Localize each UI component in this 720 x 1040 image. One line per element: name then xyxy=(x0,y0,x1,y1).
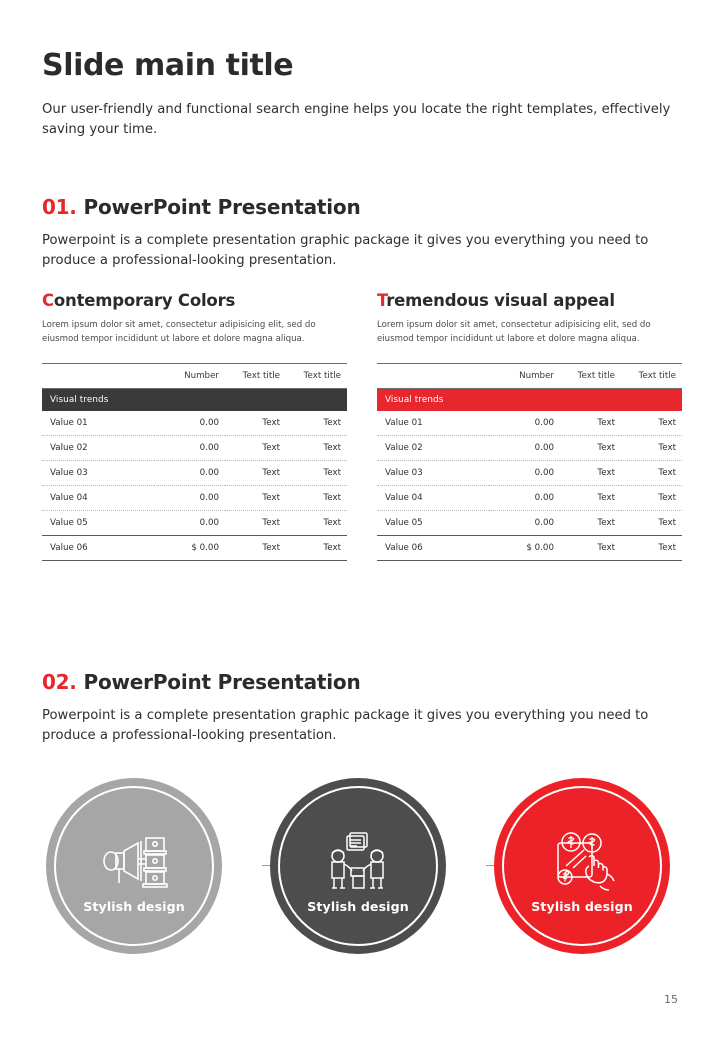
hand-tablet-money-icon xyxy=(544,829,620,893)
table-row: Value 04 0.00 Text Text xyxy=(377,485,682,510)
table-row: Value 01 0.00 Text Text xyxy=(42,411,347,436)
right-r5-c0: Value 06 xyxy=(377,535,489,560)
right-r0-c0: Value 01 xyxy=(377,411,489,436)
left-table-banner-label: Visual trends xyxy=(42,388,347,411)
right-r0-c1: 0.00 xyxy=(489,411,560,436)
right-data-table: Number Text title Text title Visual tren… xyxy=(377,363,682,561)
tables-row: Contemporary Colors Lorem ipsum dolor si… xyxy=(42,292,682,561)
right-r5-c3: Text xyxy=(621,535,682,560)
left-r5-c1: $ 0.00 xyxy=(154,535,225,560)
right-r3-c1: 0.00 xyxy=(489,485,560,510)
section-01-body: Powerpoint is a complete presentation gr… xyxy=(42,231,682,271)
left-r2-c0: Value 03 xyxy=(42,460,154,485)
circle-label-2: Stylish design xyxy=(307,899,409,914)
table-row: Value 02 0.00 Text Text xyxy=(377,435,682,460)
circles-row: Stylish design xyxy=(42,778,682,954)
left-r2-c3: Text xyxy=(286,460,347,485)
left-r3-c2: Text xyxy=(225,485,286,510)
left-table-banner-row: Visual trends xyxy=(42,388,347,411)
circle-item-1[interactable]: Stylish design xyxy=(46,778,222,954)
page-number: 15 xyxy=(664,993,678,1006)
left-r2-c2: Text xyxy=(225,460,286,485)
left-r4-c0: Value 05 xyxy=(42,510,154,535)
left-heading-rest: ontemporary Colors xyxy=(54,291,235,310)
right-r2-c2: Text xyxy=(560,460,621,485)
right-col-head-3: Text title xyxy=(621,364,682,389)
table-row: Value 03 0.00 Text Text xyxy=(377,460,682,485)
left-r1-c3: Text xyxy=(286,435,347,460)
right-table-banner-row: Visual trends xyxy=(377,388,682,411)
left-column-heading: Contemporary Colors xyxy=(42,292,347,310)
right-r1-c1: 0.00 xyxy=(489,435,560,460)
right-col-head-0 xyxy=(377,364,489,389)
right-table-header-row: Number Text title Text title xyxy=(377,364,682,389)
right-r4-c3: Text xyxy=(621,510,682,535)
right-col-head-1: Number xyxy=(489,364,560,389)
right-r4-c1: 0.00 xyxy=(489,510,560,535)
right-r5-c2: Text xyxy=(560,535,621,560)
left-data-table: Number Text title Text title Visual tren… xyxy=(42,363,347,561)
right-r4-c0: Value 05 xyxy=(377,510,489,535)
table-row: Value 01 0.00 Text Text xyxy=(377,411,682,436)
section-01-title: PowerPoint Presentation xyxy=(84,195,361,219)
section-02: 02. PowerPoint Presentation Powerpoint i… xyxy=(42,670,682,746)
table-row: Value 06 $ 0.00 Text Text xyxy=(42,535,347,560)
circle-label-1: Stylish design xyxy=(83,899,185,914)
right-r4-c2: Text xyxy=(560,510,621,535)
section-02-head: 02. PowerPoint Presentation xyxy=(42,670,682,694)
table-block-right: Tremendous visual appeal Lorem ipsum dol… xyxy=(377,292,682,561)
section-02-body: Powerpoint is a complete presentation gr… xyxy=(42,706,682,746)
left-r5-c3: Text xyxy=(286,535,347,560)
circle-label-3: Stylish design xyxy=(531,899,633,914)
right-r1-c2: Text xyxy=(560,435,621,460)
right-r0-c2: Text xyxy=(560,411,621,436)
left-r0-c2: Text xyxy=(225,411,286,436)
left-r3-c3: Text xyxy=(286,485,347,510)
right-heading-rest: remendous visual appeal xyxy=(386,291,615,310)
left-r3-c1: 0.00 xyxy=(154,485,225,510)
left-col-head-1: Number xyxy=(154,364,225,389)
left-r1-c0: Value 02 xyxy=(42,435,154,460)
megaphone-icon xyxy=(96,829,172,893)
right-r2-c1: 0.00 xyxy=(489,460,560,485)
page-subtitle: Our user-friendly and functional search … xyxy=(42,100,682,141)
left-col-head-0 xyxy=(42,364,154,389)
section-02-number: 02. xyxy=(42,670,77,694)
left-col-head-2: Text title xyxy=(225,364,286,389)
slide-canvas: Slide main title Our user-friendly and f… xyxy=(0,0,720,1040)
section-02-title: PowerPoint Presentation xyxy=(84,670,361,694)
left-column-lorem: Lorem ipsum dolor sit amet, consectetur … xyxy=(42,319,347,347)
left-r0-c1: 0.00 xyxy=(154,411,225,436)
left-r1-c1: 0.00 xyxy=(154,435,225,460)
left-r1-c2: Text xyxy=(225,435,286,460)
circle-item-2[interactable]: Stylish design xyxy=(270,778,446,954)
right-r1-c3: Text xyxy=(621,435,682,460)
page-title: Slide main title xyxy=(42,50,293,82)
meeting-people-icon xyxy=(320,829,396,893)
left-heading-accent-letter: C xyxy=(42,291,54,310)
right-heading-accent-letter: T xyxy=(377,291,386,310)
left-col-head-3: Text title xyxy=(286,364,347,389)
left-table-header-row: Number Text title Text title xyxy=(42,364,347,389)
left-r5-c0: Value 06 xyxy=(42,535,154,560)
table-block-left: Contemporary Colors Lorem ipsum dolor si… xyxy=(42,292,347,561)
table-row: Value 03 0.00 Text Text xyxy=(42,460,347,485)
right-r3-c2: Text xyxy=(560,485,621,510)
right-column-heading: Tremendous visual appeal xyxy=(377,292,682,310)
left-r3-c0: Value 04 xyxy=(42,485,154,510)
left-r0-c0: Value 01 xyxy=(42,411,154,436)
right-r2-c3: Text xyxy=(621,460,682,485)
right-col-head-2: Text title xyxy=(560,364,621,389)
left-r4-c2: Text xyxy=(225,510,286,535)
table-row: Value 04 0.00 Text Text xyxy=(42,485,347,510)
right-r5-c1: $ 0.00 xyxy=(489,535,560,560)
left-r2-c1: 0.00 xyxy=(154,460,225,485)
left-r5-c2: Text xyxy=(225,535,286,560)
table-row: Value 05 0.00 Text Text xyxy=(42,510,347,535)
left-r0-c3: Text xyxy=(286,411,347,436)
table-row: Value 05 0.00 Text Text xyxy=(377,510,682,535)
right-r1-c0: Value 02 xyxy=(377,435,489,460)
right-r3-c0: Value 04 xyxy=(377,485,489,510)
section-01-number: 01. xyxy=(42,195,77,219)
right-r3-c3: Text xyxy=(621,485,682,510)
table-row: Value 02 0.00 Text Text xyxy=(42,435,347,460)
left-r4-c1: 0.00 xyxy=(154,510,225,535)
left-r4-c3: Text xyxy=(286,510,347,535)
right-table-banner-label: Visual trends xyxy=(377,388,682,411)
section-01-head: 01. PowerPoint Presentation xyxy=(42,195,682,219)
right-r2-c0: Value 03 xyxy=(377,460,489,485)
circle-item-3[interactable]: Stylish design xyxy=(494,778,670,954)
section-01: 01. PowerPoint Presentation Powerpoint i… xyxy=(42,195,682,271)
right-r0-c3: Text xyxy=(621,411,682,436)
right-column-lorem: Lorem ipsum dolor sit amet, consectetur … xyxy=(377,319,682,347)
table-row: Value 06 $ 0.00 Text Text xyxy=(377,535,682,560)
